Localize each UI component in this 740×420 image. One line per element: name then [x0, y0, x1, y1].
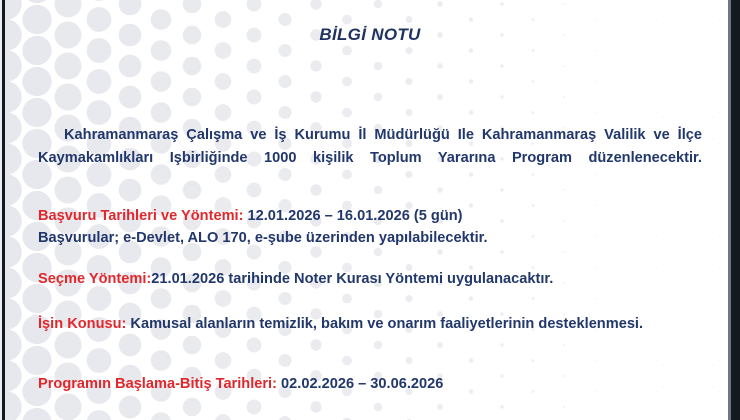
section-value: 02.02.2026 – 30.06.2026 [277, 376, 443, 392]
section-selection-method: Seçme Yöntemi:21.01.2026 tarihinde Noter… [38, 268, 702, 290]
section-label: Seçme Yöntemi: [38, 271, 151, 287]
info-note-document: BİLGİ NOTU Kahramanmaraş Çalışma ve İş K… [0, 0, 740, 420]
section-label: Başvuru Tarihleri ve Yöntemi: [38, 208, 243, 224]
section-value: 12.01.2026 – 16.01.2026 (5 gün) [243, 208, 462, 224]
section-program-dates: Programın Başlama-Bitiş Tarihleri: 02.02… [38, 373, 702, 395]
section-line: Seçme Yöntemi:21.01.2026 tarihinde Noter… [38, 268, 702, 290]
document-content: BİLGİ NOTU Kahramanmaraş Çalışma ve İş K… [0, 0, 740, 420]
section-value: Kamusal alanların temizlik, bakım ve ona… [126, 316, 643, 332]
section-line: Programın Başlama-Bitiş Tarihleri: 02.02… [38, 373, 702, 395]
section-application-dates: Başvuru Tarihleri ve Yöntemi: 12.01.2026… [38, 205, 702, 249]
page-title: BİLGİ NOTU [0, 25, 740, 45]
section-value: 21.01.2026 tarihinde Noter Kurası Yöntem… [151, 271, 553, 287]
intro-paragraph: Kahramanmaraş Çalışma ve İş Kurumu İl Mü… [38, 124, 702, 193]
section-extra-line: Başvurular; e-Devlet, ALO 170, e-şube üz… [38, 227, 702, 249]
section-label: Programın Başlama-Bitiş Tarihleri: [38, 376, 277, 392]
section-line: İşin Konusu: Kamusal alanların temizlik,… [38, 313, 702, 335]
section-label: İşin Konusu: [38, 316, 126, 332]
section-line: Başvuru Tarihleri ve Yöntemi: 12.01.2026… [38, 205, 702, 227]
section-job-subject: İşin Konusu: Kamusal alanların temizlik,… [38, 313, 702, 335]
